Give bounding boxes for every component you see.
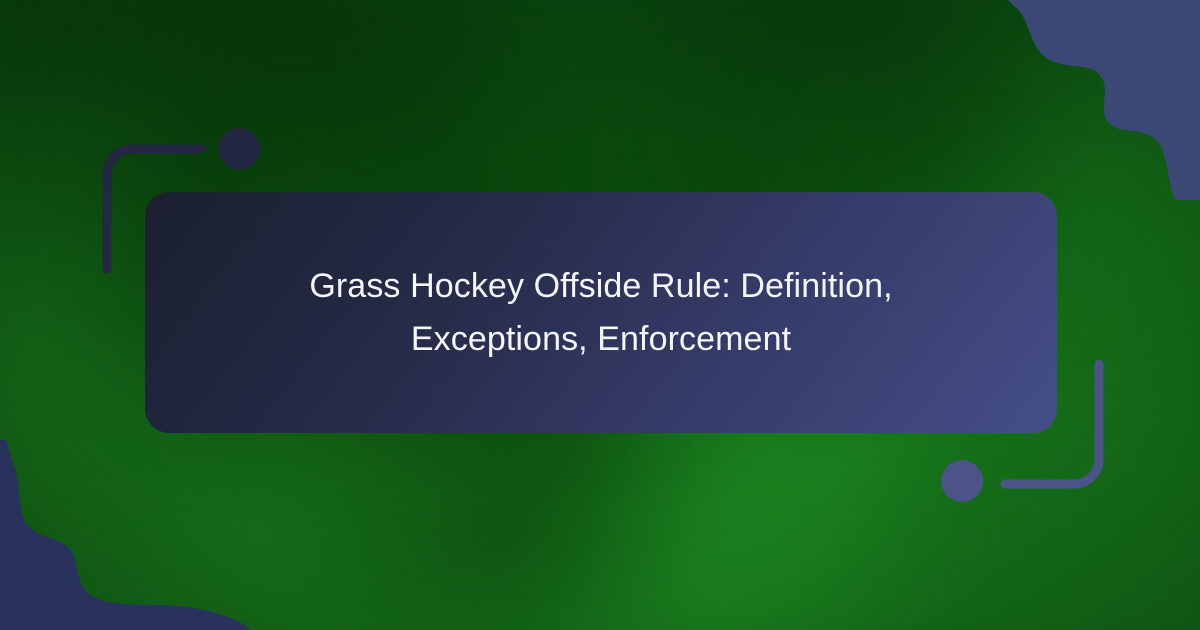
blob-top-right <box>970 0 1200 200</box>
page-title: Grass Hockey Offside Rule: Definition, E… <box>261 260 941 365</box>
dot-bottom-right-icon <box>941 460 983 502</box>
blob-bottom-left <box>0 440 250 630</box>
share-card-canvas: Grass Hockey Offside Rule: Definition, E… <box>0 0 1200 630</box>
dot-top-left-icon <box>218 128 260 170</box>
title-card: Grass Hockey Offside Rule: Definition, E… <box>145 192 1057 433</box>
